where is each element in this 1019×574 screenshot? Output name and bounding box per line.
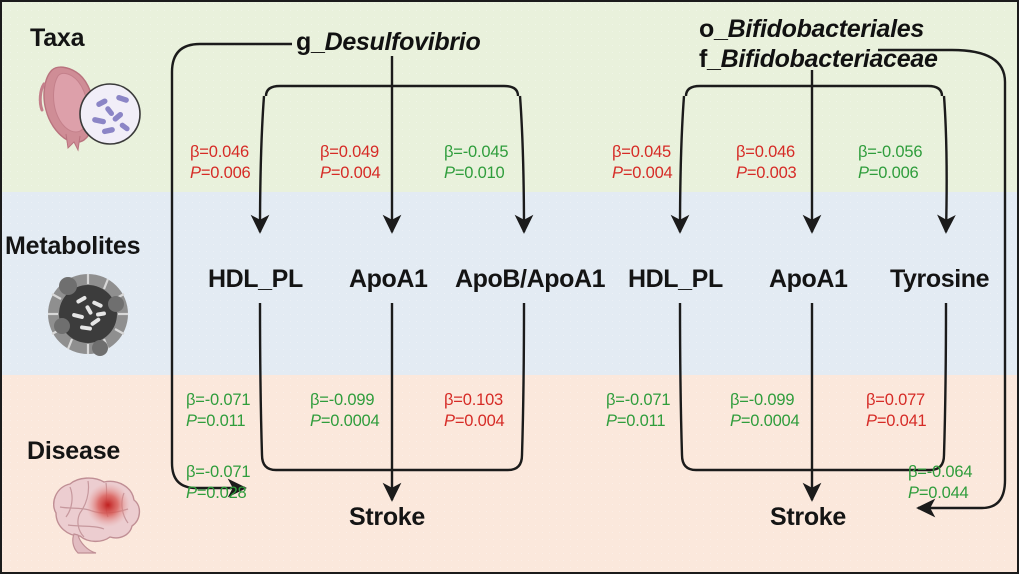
taxon-name-right-2: Bifidobacteriaceae bbox=[721, 45, 938, 73]
taxon-prefix-left: g_ bbox=[296, 28, 325, 56]
taxon-prefix-right-2: f_ bbox=[699, 45, 721, 73]
stat-right-exposure-2: β=-0.056 P=0.006 bbox=[858, 142, 922, 184]
taxon-label-right: o_Bifidobacteriales f_Bifidobacteriaceae bbox=[699, 14, 938, 74]
stat-left-outcome-1: β=-0.099 P=0.0004 bbox=[310, 390, 380, 432]
taxon-prefix-right-1: o_ bbox=[699, 15, 728, 43]
brain-stroke-icon bbox=[38, 473, 150, 557]
metabolite-node-left-0: HDL_PL bbox=[208, 265, 303, 294]
taxon-name-right-1: Bifidobacteriales bbox=[728, 15, 924, 43]
stat-right-exposure-0: β=0.045 P=0.004 bbox=[612, 142, 673, 184]
metabolite-node-left-2: ApoB/ApoA1 bbox=[455, 265, 605, 294]
lipoprotein-particle-icon bbox=[40, 268, 136, 360]
stat-left-exposure-0: β=0.046 P=0.006 bbox=[190, 142, 251, 184]
intestine-microbiome-icon bbox=[22, 62, 144, 154]
row-label-taxa: Taxa bbox=[30, 24, 84, 53]
stat-right-outcome-2: β=0.077 P=0.041 bbox=[866, 390, 927, 432]
stat-right-exposure-1: β=0.046 P=0.003 bbox=[736, 142, 797, 184]
stat-right-outcome-1: β=-0.099 P=0.0004 bbox=[730, 390, 800, 432]
stat-right-direct: β=-0.064 P=0.044 bbox=[908, 462, 972, 504]
figure-canvas: Taxa Metabolites bbox=[0, 0, 1019, 574]
stat-left-outcome-2: β=0.103 P=0.004 bbox=[444, 390, 505, 432]
outcome-node-left: Stroke bbox=[349, 503, 425, 532]
stat-left-exposure-1: β=0.049 P=0.004 bbox=[320, 142, 381, 184]
metabolite-node-left-1: ApoA1 bbox=[349, 265, 428, 294]
row-label-metabolites: Metabolites bbox=[5, 232, 140, 261]
stat-left-direct: β=-0.071 P=0.028 bbox=[186, 462, 250, 504]
row-label-disease: Disease bbox=[27, 437, 120, 466]
taxon-label-left: g_Desulfovibrio bbox=[296, 28, 480, 57]
metabolite-node-right-0: HDL_PL bbox=[628, 265, 723, 294]
taxon-name-left: Desulfovibrio bbox=[325, 28, 481, 56]
outcome-node-right: Stroke bbox=[770, 503, 846, 532]
metabolite-node-right-1: ApoA1 bbox=[769, 265, 848, 294]
stat-left-exposure-2: β=-0.045 P=0.010 bbox=[444, 142, 508, 184]
stat-left-outcome-0: β=-0.071 P=0.011 bbox=[186, 390, 250, 432]
metabolite-node-right-2: Tyrosine bbox=[890, 265, 989, 294]
stat-right-outcome-0: β=-0.071 P=0.011 bbox=[606, 390, 670, 432]
